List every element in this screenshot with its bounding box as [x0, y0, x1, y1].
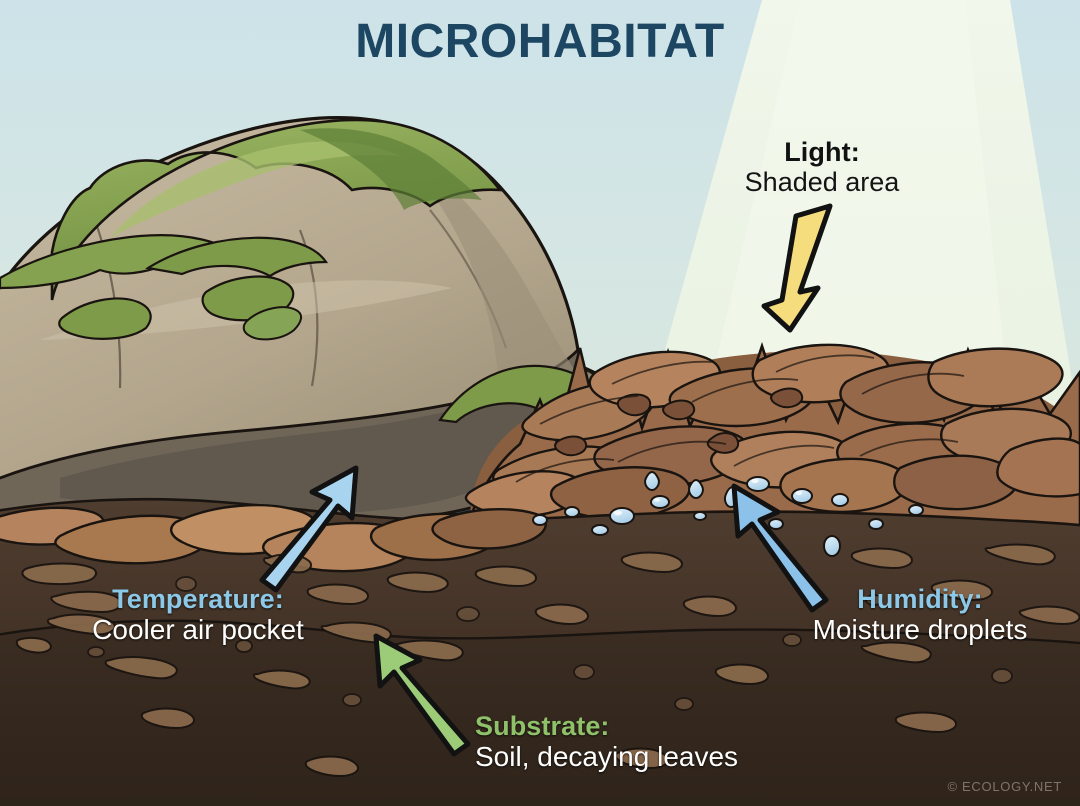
illustration-canvas — [0, 0, 1080, 806]
microhabitat-diagram: MICROHABITAT Light: Shaded area Temperat… — [0, 0, 1080, 806]
